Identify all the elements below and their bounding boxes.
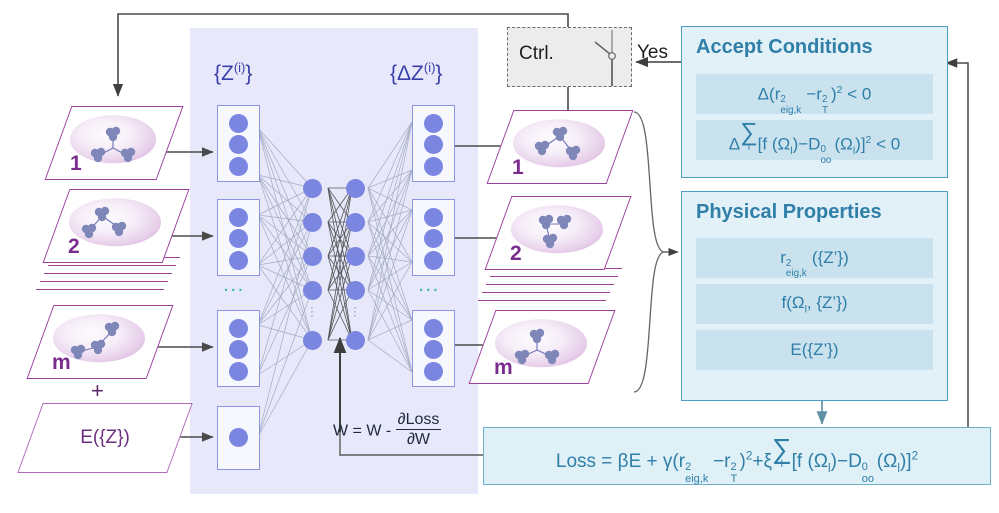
control-box[interactable]: Ctrl. bbox=[507, 27, 632, 87]
physical-property-row-3: E({Z’}) bbox=[696, 330, 933, 370]
nn-node bbox=[229, 114, 248, 133]
nn-hidden-node bbox=[303, 213, 322, 232]
vertical-dots: ··· bbox=[310, 306, 314, 318]
nn-node bbox=[229, 362, 248, 381]
loss-box: Loss = βE + γ(r2eig,k−r2T)2+ξ∑l[f (Ωl)−D… bbox=[483, 427, 991, 485]
vertical-dots: ··· bbox=[353, 306, 357, 318]
nn-node bbox=[424, 157, 443, 176]
nn-input-box-1[interactable]: ··· bbox=[217, 105, 260, 182]
nn-node bbox=[229, 428, 248, 447]
nn-hidden-node bbox=[346, 247, 365, 266]
gradient-denominator: ∂W bbox=[396, 430, 442, 449]
nn-hidden-node bbox=[346, 281, 365, 300]
nn-hidden-node bbox=[346, 179, 365, 198]
weight-update-lhs: W = W - bbox=[333, 423, 391, 440]
latent-output-label: {ΔZ(i)} bbox=[390, 60, 442, 86]
card-stack-line bbox=[482, 292, 611, 293]
output-card-2[interactable]: 2 bbox=[498, 196, 616, 268]
nn-energy-input-box[interactable] bbox=[217, 406, 260, 470]
card-stack-line bbox=[48, 265, 177, 266]
output-card-label: 1 bbox=[512, 156, 524, 180]
accept-conditions-panel: Accept Conditions Δ(r2eig,k−r2T)2 < 0 Δ∑… bbox=[681, 26, 948, 178]
nn-node bbox=[424, 114, 443, 133]
accept-condition-row-1: Δ(r2eig,k−r2T)2 < 0 bbox=[696, 74, 933, 114]
input-card-1[interactable]: 1 bbox=[58, 106, 168, 178]
nn-output-box-m[interactable]: ··· bbox=[412, 310, 455, 387]
nn-node bbox=[424, 362, 443, 381]
input-card-label: 2 bbox=[68, 235, 80, 259]
physical-property-3-formula: E({Z’}) bbox=[790, 340, 838, 360]
card-stack-line bbox=[36, 289, 165, 290]
card-stack-line bbox=[40, 281, 169, 282]
plus-sign: + bbox=[91, 378, 104, 404]
nn-node bbox=[229, 319, 248, 338]
output-card-label: 2 bbox=[510, 242, 522, 266]
latent-input-label: {Z(i)} bbox=[214, 60, 252, 86]
nn-input-box-2[interactable]: ··· bbox=[217, 199, 260, 276]
output-card-m[interactable]: m bbox=[482, 310, 600, 382]
card-stack-line bbox=[490, 276, 619, 277]
control-label: Ctrl. bbox=[519, 43, 554, 65]
physical-properties-panel: Physical Properties r2eig,k({Z’}) f(Ωl, … bbox=[681, 191, 948, 401]
nn-node bbox=[424, 208, 443, 227]
output-card-1[interactable]: 1 bbox=[500, 110, 618, 182]
energy-card[interactable]: E({Z}) bbox=[30, 403, 180, 473]
diagram-canvas: 1 2 m bbox=[0, 0, 999, 513]
nn-node bbox=[229, 208, 248, 227]
nn-node bbox=[424, 251, 443, 270]
nn-hidden-node bbox=[303, 281, 322, 300]
gradient-fraction: ∂Loss ∂W bbox=[396, 411, 442, 450]
physical-property-row-1: r2eig,k({Z’}) bbox=[696, 238, 933, 278]
gradient-numerator: ∂Loss bbox=[396, 411, 442, 430]
nn-hidden-node bbox=[346, 331, 365, 350]
nn-hidden-node bbox=[303, 247, 322, 266]
nn-output-box-2[interactable]: ··· bbox=[412, 199, 455, 276]
input-boxes-ellipsis: ... bbox=[224, 278, 246, 295]
nn-node bbox=[229, 157, 248, 176]
nn-output-box-1[interactable]: ··· bbox=[412, 105, 455, 182]
input-card-label: 1 bbox=[70, 152, 82, 176]
nn-input-box-m[interactable]: ··· bbox=[217, 310, 260, 387]
card-stack-line bbox=[44, 273, 173, 274]
input-card-label: m bbox=[52, 351, 71, 375]
physical-property-1-formula: r2eig,k({Z’}) bbox=[780, 248, 849, 268]
nn-hidden-node bbox=[346, 213, 365, 232]
nn-hidden-node bbox=[303, 179, 322, 198]
weight-update-formula: W = W - ∂Loss ∂W bbox=[333, 412, 441, 451]
yes-label: Yes bbox=[637, 42, 668, 64]
accept-condition-1-formula: Δ(r2eig,k−r2T)2 < 0 bbox=[758, 84, 872, 105]
physical-properties-heading: Physical Properties bbox=[696, 201, 882, 224]
energy-label: E({Z}) bbox=[30, 427, 180, 449]
accept-condition-2-formula: Δ∑l[f (Ωl)−D0oo(Ωl)]2 < 0 bbox=[729, 123, 901, 157]
nn-node bbox=[229, 251, 248, 270]
output-boxes-ellipsis: ... bbox=[419, 278, 441, 295]
card-stack-line bbox=[486, 284, 615, 285]
accept-condition-row-2: Δ∑l[f (Ωl)−D0oo(Ωl)]2 < 0 bbox=[696, 120, 933, 160]
output-card-label: m bbox=[494, 356, 513, 380]
input-card-2[interactable]: 2 bbox=[56, 189, 174, 261]
physical-property-2-formula: f(Ωl, {Z’}) bbox=[781, 293, 847, 315]
accept-conditions-heading: Accept Conditions bbox=[696, 36, 873, 59]
physical-property-row-2: f(Ωl, {Z’}) bbox=[696, 284, 933, 324]
nn-node bbox=[424, 319, 443, 338]
card-stack-line bbox=[478, 300, 607, 301]
switch-icon bbox=[567, 28, 627, 86]
nn-hidden-node bbox=[303, 331, 322, 350]
input-card-m[interactable]: m bbox=[40, 305, 158, 377]
loss-formula: Loss = βE + γ(r2eig,k−r2T)2+ξ∑l[f (Ωl)−D… bbox=[556, 438, 918, 475]
